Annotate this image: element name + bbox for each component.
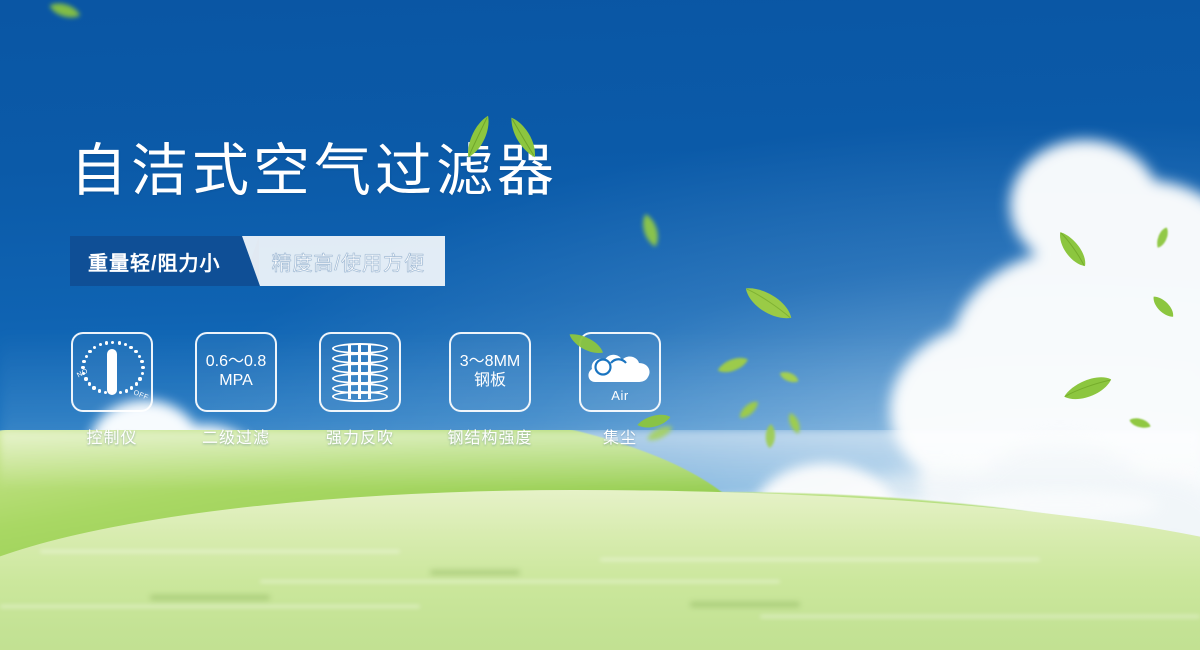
feature-icon-box: 3〜8MM 钢板 — [449, 332, 531, 412]
dial-off-label: OFF — [132, 389, 149, 401]
feature-label: 控制仪 — [86, 424, 137, 448]
feature-item-two-stage-filter[interactable]: 0.6〜0.8 MPA 二级过滤 — [194, 332, 278, 448]
feature-list: NO OFF — [70, 332, 662, 448]
control-dial-icon: NO OFF — [78, 340, 146, 404]
steel-material: 钢板 — [460, 372, 520, 391]
feature-item-control-dial[interactable]: NO OFF — [70, 332, 154, 448]
feature-icon-box — [319, 332, 401, 412]
leaf-icon — [763, 423, 777, 450]
grass-streak — [40, 550, 400, 553]
tagline-left: 重量轻/阻力小 — [70, 236, 243, 286]
pressure-unit: MPA — [206, 372, 267, 391]
steel-plate-text-icon: 3〜8MM 钢板 — [460, 353, 520, 391]
feature-icon-box: NO OFF — [71, 332, 153, 412]
grass-shadow — [430, 570, 520, 575]
dial-switch — [107, 349, 117, 395]
product-banner: 自洁式空气过滤器 重量轻/阻力小 精度高/使用方便 NO OFF — [0, 0, 1200, 650]
grass-streak — [0, 605, 420, 608]
coil-blowback-icon — [332, 341, 388, 403]
tagline-bar: 重量轻/阻力小 精度高/使用方便 — [70, 236, 445, 286]
feature-label: 集尘 — [603, 424, 637, 448]
feature-item-blowback[interactable]: 强力反吹 — [318, 332, 402, 448]
feature-item-steel-strength[interactable]: 3〜8MM 钢板 钢结构强度 — [442, 332, 538, 448]
grass-streak — [760, 615, 1200, 618]
grass-shadow — [150, 595, 270, 600]
pressure-text-icon: 0.6〜0.8 MPA — [206, 353, 267, 391]
grass-shadow — [690, 602, 800, 607]
tagline-right: 精度高/使用方便 — [242, 236, 446, 286]
grass-streak — [260, 580, 780, 583]
feature-label: 强力反吹 — [326, 424, 394, 448]
feature-label: 钢结构强度 — [447, 424, 532, 448]
steel-thickness: 3〜8MM — [460, 353, 520, 372]
pressure-value: 0.6〜0.8 — [206, 353, 267, 372]
grass-streak — [600, 558, 1040, 561]
page-title: 自洁式空气过滤器 — [70, 143, 558, 200]
grass-field — [0, 430, 1200, 650]
feature-label: 二级过滤 — [202, 424, 270, 448]
feature-icon-box: 0.6〜0.8 MPA — [195, 332, 277, 412]
air-label: Air — [587, 388, 653, 403]
